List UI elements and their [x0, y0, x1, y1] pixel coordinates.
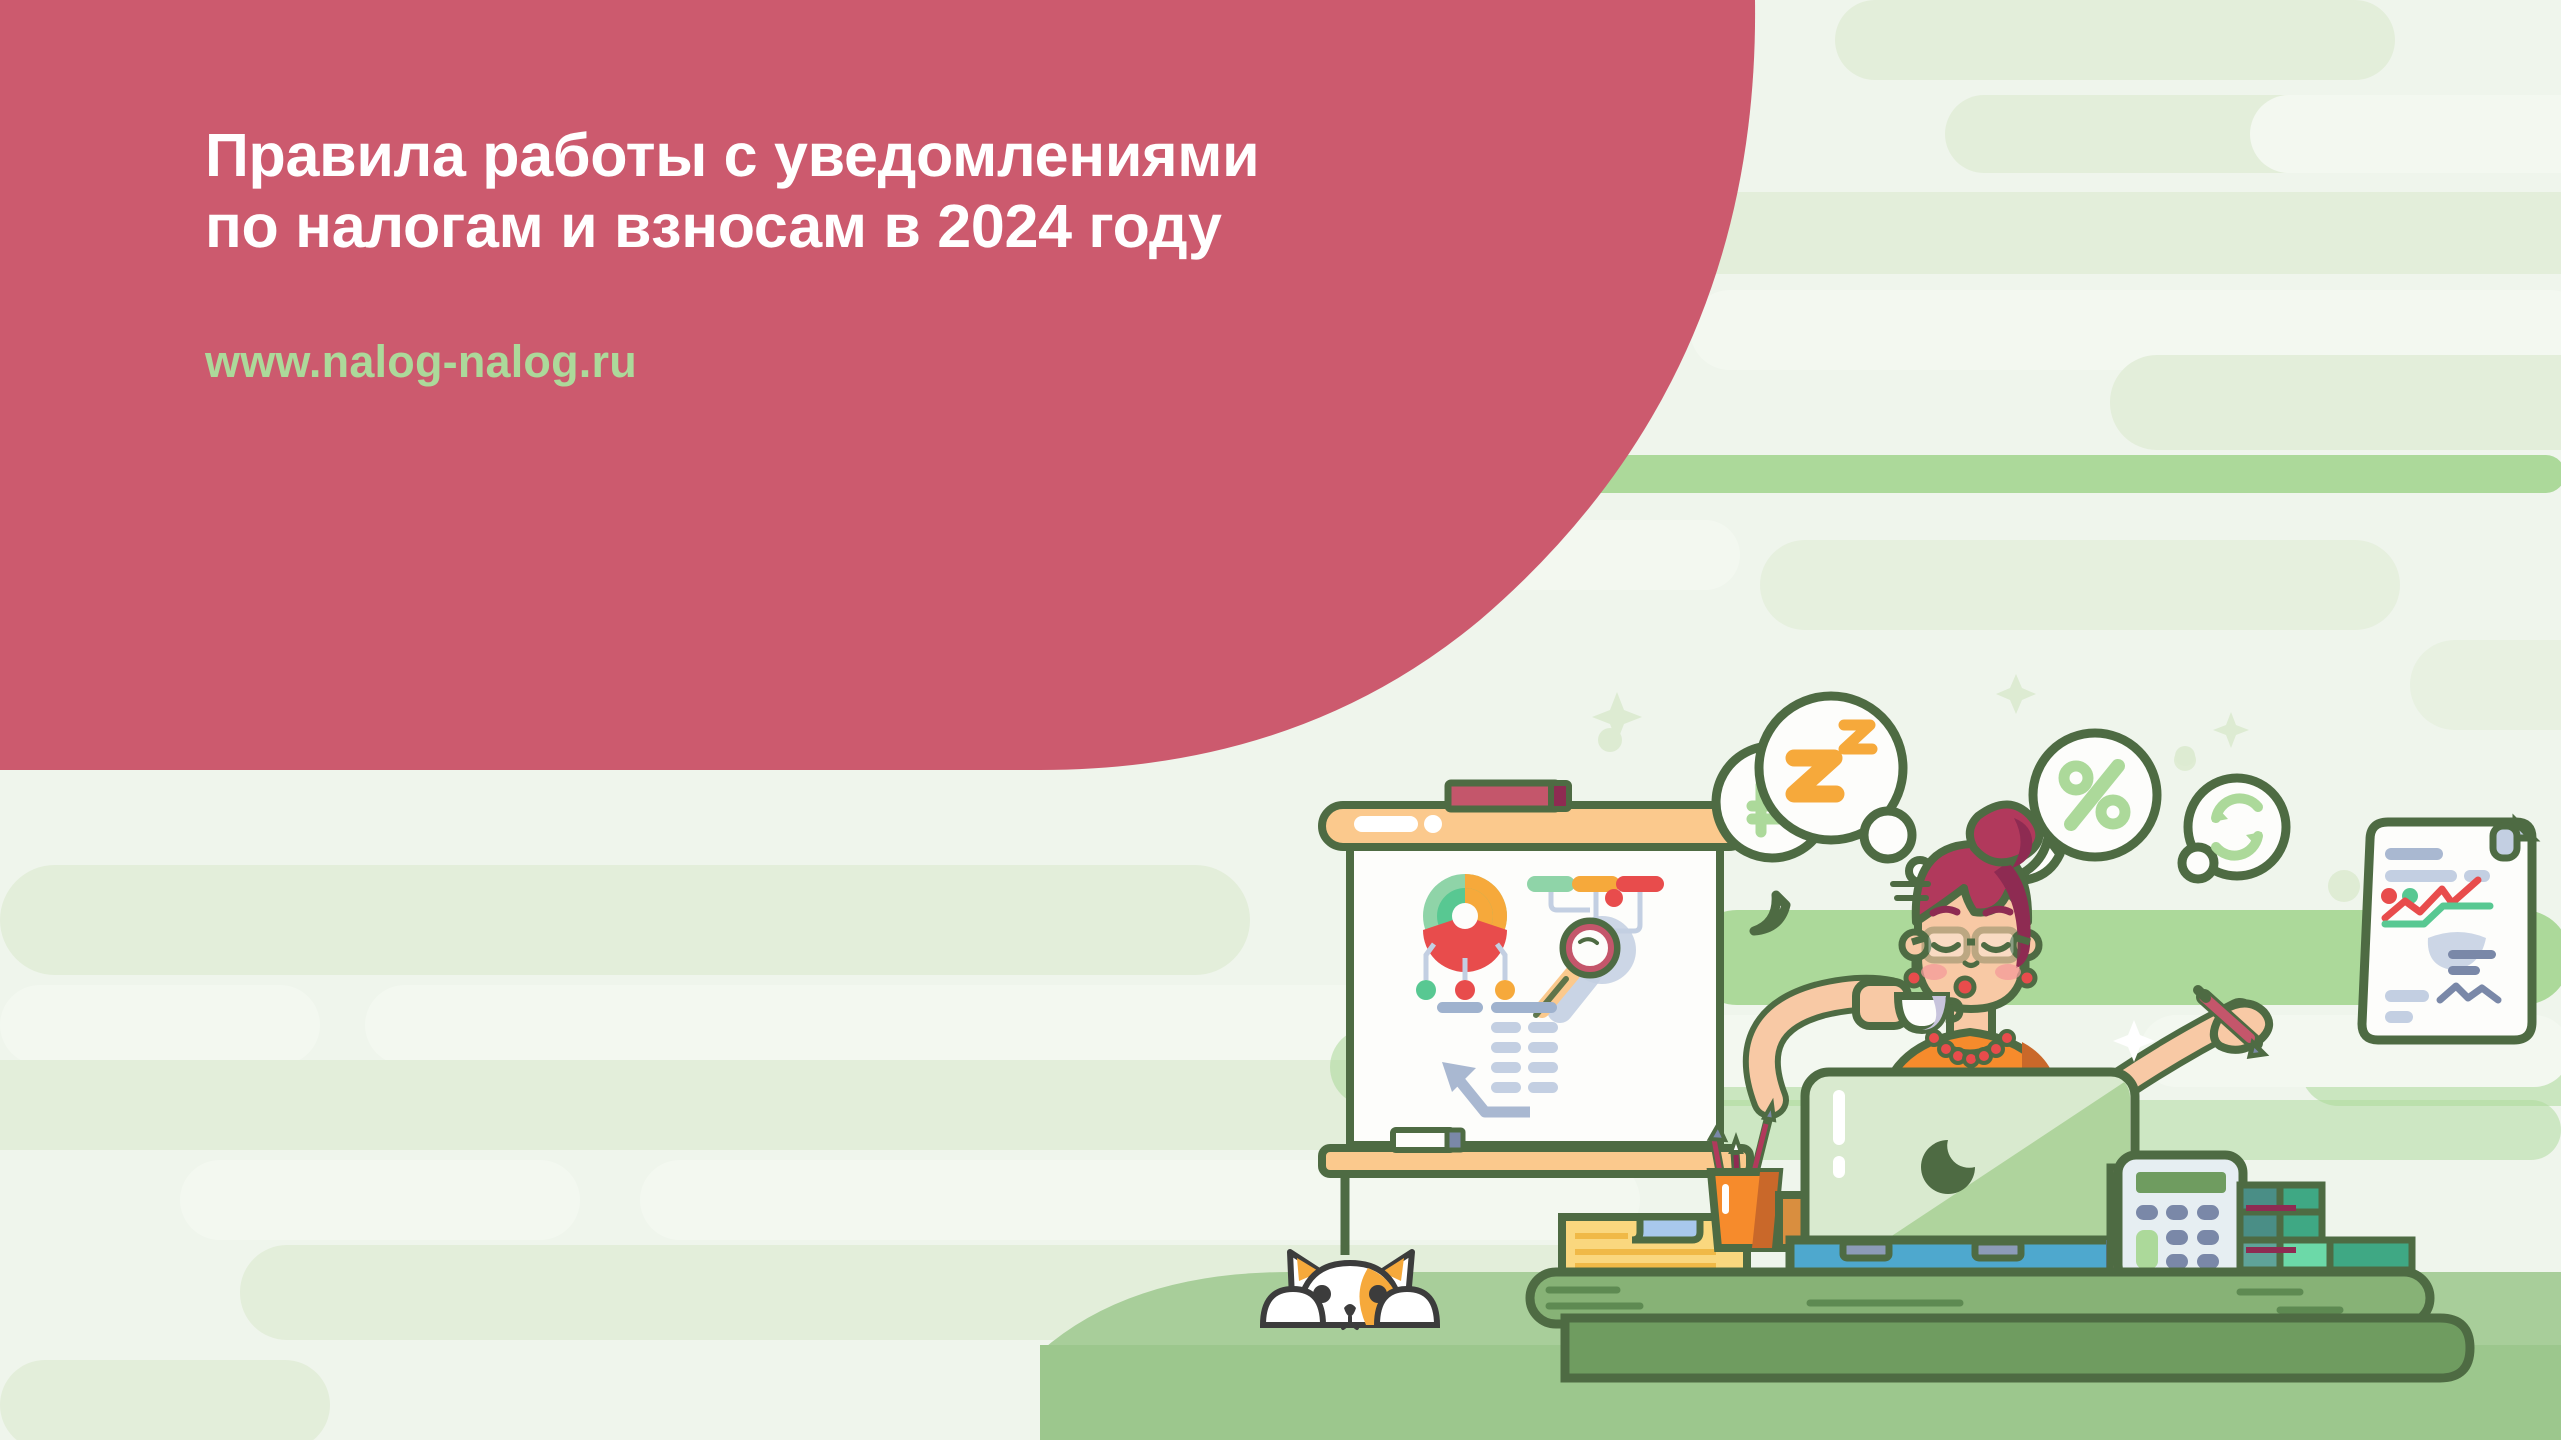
- headline-block: Правила работы с уведомлениями по налога…: [205, 120, 1605, 388]
- banner-canvas: Правила работы с уведомлениями по налога…: [0, 0, 2561, 1440]
- site-url-link[interactable]: www.nalog-nalog.ru: [205, 336, 1605, 388]
- page-title: Правила работы с уведомлениями по налога…: [205, 120, 1605, 263]
